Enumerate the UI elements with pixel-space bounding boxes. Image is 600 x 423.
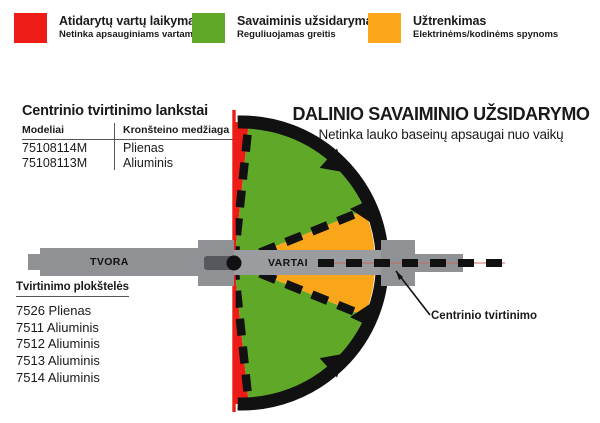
central-mount-callout-label: Centrinio tvirtinimo [431,310,537,322]
fence-label: TVORA [90,256,129,268]
fence-rail-stub [28,254,42,270]
gate-swing-diagram [0,0,600,423]
diagram-page: Atidarytų vartų laikymas Netinka apsaugi… [0,0,600,423]
gate-label: VARTAI [268,257,308,269]
pivot-point [227,256,242,271]
